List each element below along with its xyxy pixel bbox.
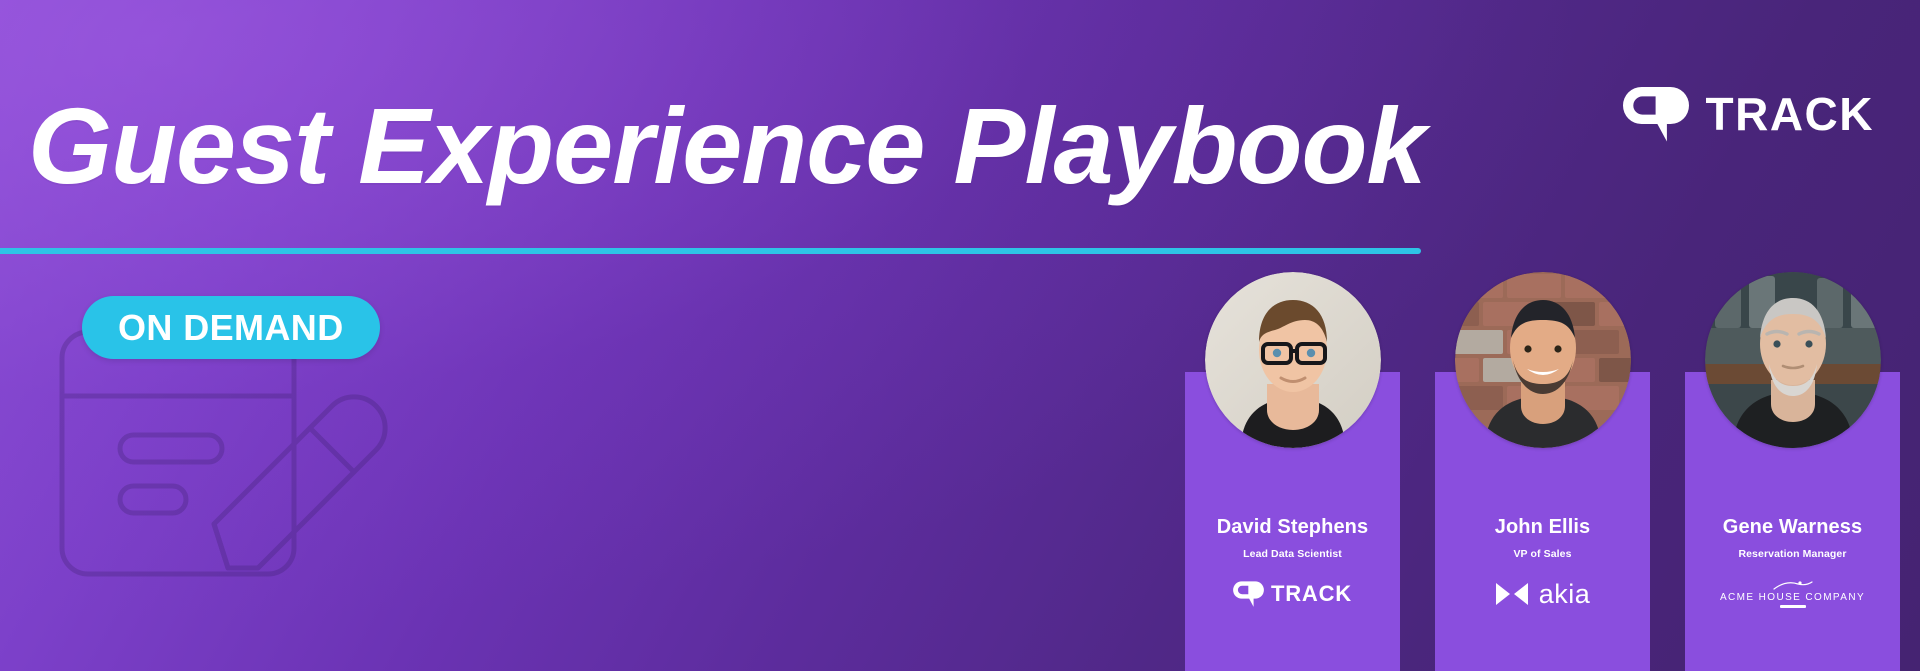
speaker-company-logo: ACME HOUSE COMPANY [1720,580,1865,608]
speaker-name: John Ellis [1495,516,1590,539]
track-logo-icon [1233,580,1264,608]
on-demand-badge[interactable]: ON DEMAND [82,296,380,359]
avatar-john-ellis [1455,272,1631,448]
speaker-name: David Stephens [1217,516,1368,539]
speaker-title: Lead Data Scientist [1243,548,1342,560]
track-chat-bubble-icon [1623,84,1689,144]
speaker-meta: David Stephens Lead Data Scientist TRACK [1185,448,1400,608]
speaker-company-logo: TRACK [1233,580,1352,608]
accent-divider [0,248,1421,254]
akia-logo-icon [1495,582,1529,606]
speaker-card[interactable]: John Ellis VP of Sales akia [1435,272,1650,671]
page-title: Guest Experience Playbook [28,92,1426,200]
brand-logo[interactable]: TRACK [1623,84,1874,144]
speaker-card[interactable]: David Stephens Lead Data Scientist TRACK [1185,272,1400,671]
speaker-card-list: David Stephens Lead Data Scientist TRACK [1185,272,1900,671]
acme-underbar [1780,605,1806,608]
speaker-meta: Gene Warness Reservation Manager ACME HO… [1685,448,1900,608]
speaker-company-logo: akia [1495,580,1591,608]
acme-house-crest-icon [1770,580,1816,591]
speaker-title: VP of Sales [1513,548,1571,560]
speaker-company-name: TRACK [1271,581,1352,607]
speaker-company-name: ACME HOUSE COMPANY [1720,592,1865,603]
brand-name: TRACK [1706,87,1874,141]
speaker-card[interactable]: Gene Warness Reservation Manager ACME HO… [1685,272,1900,671]
speaker-meta: John Ellis VP of Sales akia [1435,448,1650,608]
speaker-company-name: akia [1539,579,1591,610]
speaker-name: Gene Warness [1723,516,1862,539]
avatar-david-stephens [1205,272,1381,448]
avatar-gene-warness [1705,272,1881,448]
webinar-banner: Guest Experience Playbook ON DEMAND TRAC… [0,0,1920,671]
speaker-title: Reservation Manager [1738,548,1846,560]
on-demand-badge-label: ON DEMAND [118,307,344,349]
